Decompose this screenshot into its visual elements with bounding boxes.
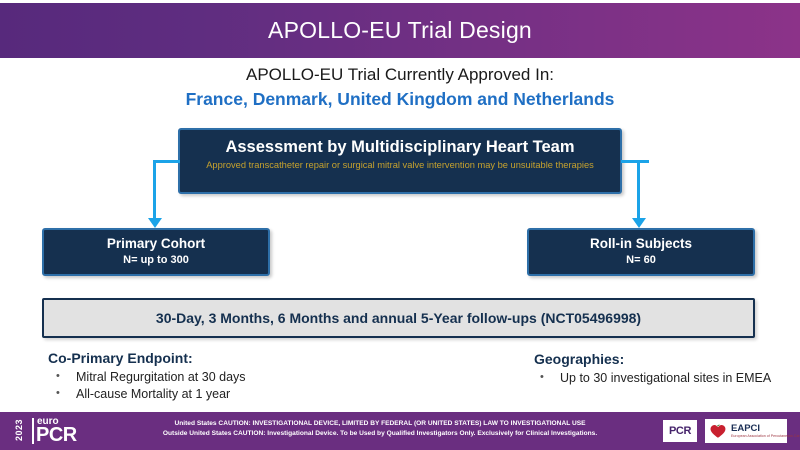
connector-right-arrowhead <box>632 218 646 228</box>
europcr-logo-year: 2023 <box>14 415 24 445</box>
connector-right-horizontal <box>621 160 649 163</box>
geographies-list: Up to 30 investigational sites in EMEA <box>534 370 800 387</box>
europcr-logo: 2023 euro PCR <box>10 416 94 446</box>
primary-cohort-title: Primary Cohort <box>44 235 268 253</box>
approval-countries: France, Denmark, United Kingdom and Neth… <box>0 87 800 111</box>
co-primary-endpoint-heading: Co-Primary Endpoint: <box>48 349 468 368</box>
footer-disclaimer-line1: United States CAUTION: INVESTIGATIONAL D… <box>110 419 650 429</box>
approval-subtitle-line1: APOLLO-EU Trial Currently Approved In: <box>0 64 800 86</box>
slide-canvas: APOLLO-EU Trial Design APOLLO-EU Trial C… <box>0 0 800 450</box>
pcr-badge-logo: PCR <box>663 420 697 442</box>
list-item: Up to 30 investigational sites in EMEA <box>534 370 800 387</box>
footer-disclaimer: United States CAUTION: INVESTIGATIONAL D… <box>110 419 650 438</box>
list-item: All-cause Mortality at 1 year <box>48 386 468 403</box>
followup-text: 30-Day, 3 Months, 6 Months and annual 5-… <box>156 310 641 326</box>
list-item: Mitral Regurgitation at 30 days <box>48 369 468 386</box>
geographies-section: Geographies: Up to 30 investigational si… <box>534 350 800 387</box>
footer-disclaimer-line2: Outside United States CAUTION: Investiga… <box>110 429 650 439</box>
connector-left-vertical <box>153 160 156 220</box>
co-primary-endpoint-list: Mitral Regurgitation at 30 days All-caus… <box>48 369 468 403</box>
rollin-subjects-box: Roll-in Subjects N= 60 <box>527 228 755 276</box>
connector-left-arrowhead <box>148 218 162 228</box>
co-primary-endpoint-section: Co-Primary Endpoint: Mitral Regurgitatio… <box>48 349 468 403</box>
primary-cohort-count: N= up to 300 <box>44 253 268 268</box>
eapci-badge-logo: EAPCI European Association of Percutaneo… <box>705 419 787 443</box>
eapci-subtitle: European Association of Percutaneous Car… <box>731 434 800 439</box>
primary-cohort-box: Primary Cohort N= up to 300 <box>42 228 270 276</box>
europcr-logo-pcr: PCR <box>36 424 77 446</box>
rollin-subjects-title: Roll-in Subjects <box>529 235 753 253</box>
followup-bar: 30-Day, 3 Months, 6 Months and annual 5-… <box>42 298 755 338</box>
eapci-name: EAPCI <box>731 424 800 434</box>
assessment-note: Approved transcatheter repair or surgica… <box>180 157 620 171</box>
connector-left-horizontal <box>153 160 180 163</box>
pcr-badge-text: PCR <box>669 425 691 437</box>
approval-subtitle: APOLLO-EU Trial Currently Approved In: F… <box>0 64 800 111</box>
connector-right-vertical <box>637 160 640 220</box>
header-band: APOLLO-EU Trial Design <box>0 3 800 58</box>
heart-icon <box>709 422 727 440</box>
geographies-heading: Geographies: <box>534 350 800 369</box>
assessment-box: Assessment by Multidisciplinary Heart Te… <box>178 128 622 194</box>
eapci-text-block: EAPCI European Association of Percutaneo… <box>731 424 800 439</box>
page-title: APOLLO-EU Trial Design <box>0 3 800 58</box>
europcr-logo-divider <box>32 418 34 444</box>
rollin-subjects-count: N= 60 <box>529 253 753 268</box>
assessment-title: Assessment by Multidisciplinary Heart Te… <box>180 137 620 157</box>
